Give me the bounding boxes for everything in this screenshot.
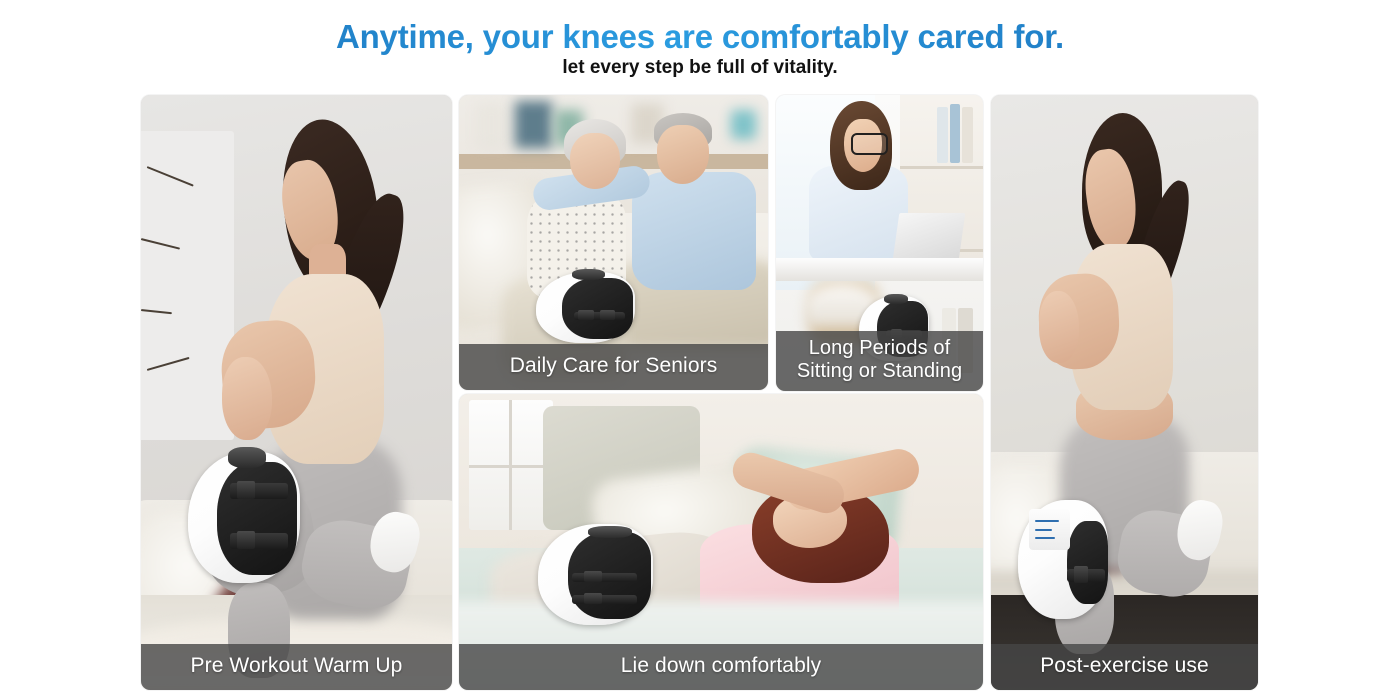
knee-massager-device bbox=[188, 452, 300, 583]
panel-caption-line-2: Sitting or Standing bbox=[780, 360, 979, 383]
device-control-panel bbox=[884, 294, 908, 304]
womans-face bbox=[570, 133, 619, 189]
device-control-panel bbox=[572, 269, 606, 280]
device-buckle bbox=[237, 481, 255, 499]
panel-caption: Daily Care for Seniors bbox=[459, 344, 768, 390]
panel-caption: Post-exercise use bbox=[991, 644, 1258, 690]
vase-decor bbox=[731, 110, 756, 140]
desk bbox=[776, 258, 983, 282]
device-indicator bbox=[1035, 520, 1058, 522]
binder bbox=[950, 104, 960, 163]
device-strap bbox=[572, 595, 637, 604]
scene-pre-workout bbox=[141, 95, 452, 690]
picture-frame bbox=[478, 104, 506, 145]
laptop bbox=[893, 213, 966, 260]
clasped-hands bbox=[222, 357, 272, 440]
device-buckle bbox=[584, 593, 602, 604]
window-bar bbox=[509, 400, 512, 530]
mans-shirt bbox=[632, 172, 756, 290]
device-control-panel bbox=[588, 526, 632, 538]
gallery-panel-long-periods[interactable]: Long Periods of Sitting or Standing bbox=[776, 95, 983, 391]
gallery-panel-pre-workout[interactable]: Pre Workout Warm Up bbox=[141, 95, 452, 690]
page-headline: Anytime, your knees are comfortably care… bbox=[0, 18, 1400, 56]
scene-post-exercise bbox=[991, 95, 1258, 690]
gallery-panel-post-exercise[interactable]: Post-exercise use bbox=[991, 95, 1258, 690]
gallery-panel-lie-down[interactable]: Lie down comfortably bbox=[459, 394, 983, 690]
device-buckle bbox=[237, 531, 255, 549]
device-buckle bbox=[600, 310, 616, 320]
binder bbox=[937, 107, 947, 163]
eyeglasses-icon bbox=[851, 133, 888, 155]
device-pad bbox=[217, 462, 298, 575]
device-buckle bbox=[578, 310, 594, 320]
panel-caption: Pre Workout Warm Up bbox=[141, 644, 452, 690]
device-buckle bbox=[584, 571, 602, 582]
picture-frame bbox=[515, 101, 552, 148]
knee-massager-device bbox=[1018, 500, 1109, 619]
device-strap bbox=[572, 573, 637, 582]
device-pad bbox=[562, 278, 633, 339]
device-buckle bbox=[1074, 566, 1089, 583]
page-subheadline: let every step be full of vitality. bbox=[0, 57, 1400, 79]
wall-art bbox=[141, 131, 234, 440]
panel-caption-line-1: Long Periods of bbox=[780, 337, 979, 360]
clasped-hands bbox=[1039, 291, 1079, 362]
binder bbox=[962, 107, 972, 163]
device-indicator bbox=[1035, 529, 1052, 531]
knee-massager-device bbox=[536, 272, 635, 343]
device-control-panel bbox=[228, 447, 266, 468]
promo-page: Anytime, your knees are comfortably care… bbox=[0, 0, 1400, 700]
panel-caption: Lie down comfortably bbox=[459, 644, 983, 690]
mans-face bbox=[657, 125, 710, 184]
panel-caption: Long Periods of Sitting or Standing bbox=[776, 331, 983, 391]
gallery-panel-daily-care-seniors[interactable]: Daily Care for Seniors bbox=[459, 95, 768, 390]
device-control-panel bbox=[1029, 509, 1071, 549]
knee-massager-device bbox=[538, 524, 653, 625]
device-indicator bbox=[1035, 537, 1055, 539]
shelf-divider bbox=[900, 166, 983, 169]
device-pad bbox=[1067, 521, 1109, 604]
